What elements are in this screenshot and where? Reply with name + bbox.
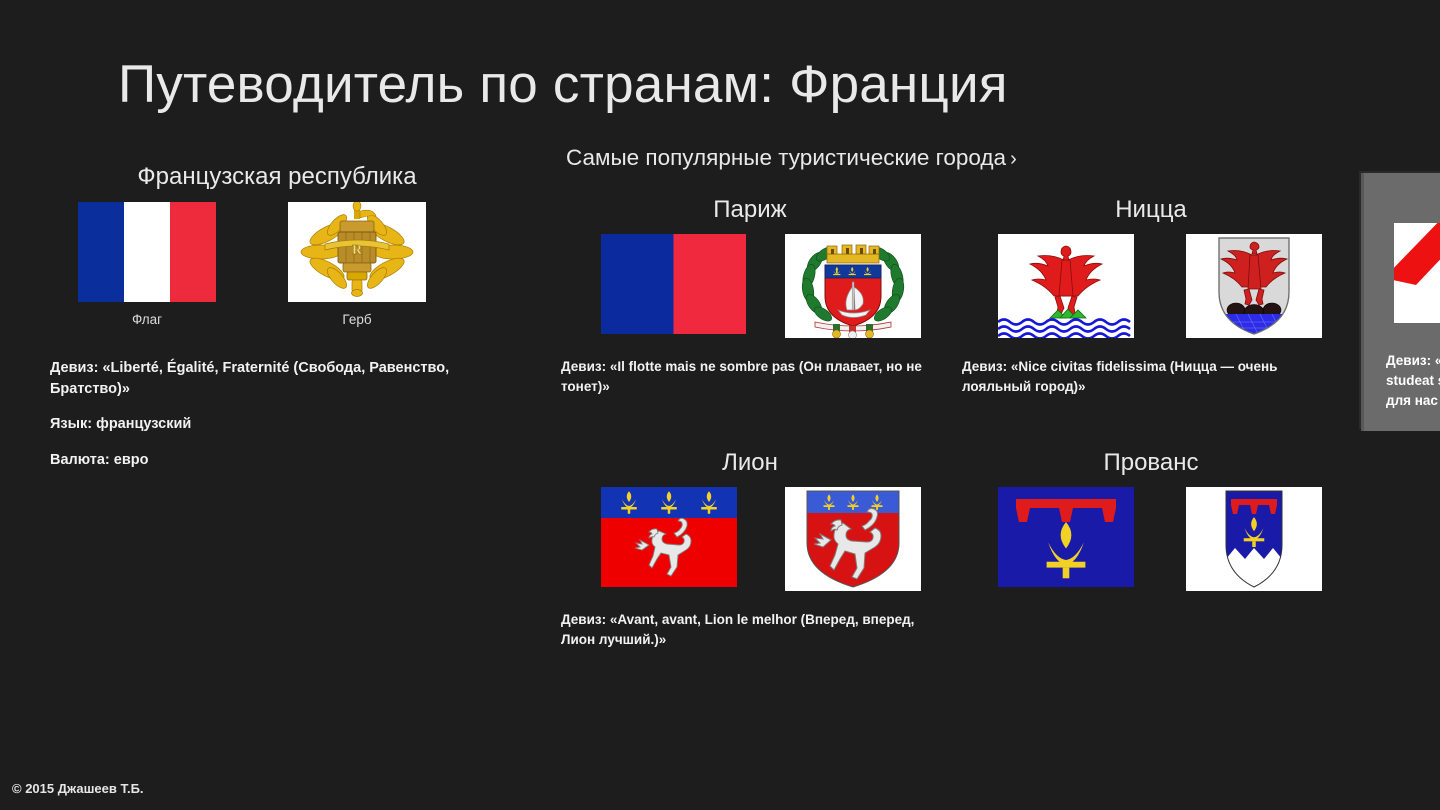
france-coat-of-arms-icon: R (288, 202, 426, 302)
city-motto-paris: Девиз: «Il flotte mais ne sombre pas (Он… (561, 357, 926, 396)
city-card-lyon[interactable]: Лион (561, 449, 961, 649)
france-flag-icon (78, 202, 216, 302)
city-title-provence: Прованс (981, 449, 1321, 477)
lyon-coat-of-arms-icon (785, 487, 921, 591)
nice-coat-of-arms-icon (1186, 234, 1322, 338)
france-flag-caption: Флаг (78, 312, 216, 327)
france-arms-caption: Герб (288, 312, 426, 327)
overlay-city-panel[interactable]: Девиз: « studeat s для нас (1361, 173, 1440, 431)
country-motto: Девиз: «Liberté, Égalité, Fraternité (Св… (50, 358, 470, 399)
overlay-flag-icon (1394, 223, 1440, 323)
country-language: Язык: французский (50, 414, 470, 435)
paris-coat-of-arms-icon (785, 234, 921, 338)
overlay-motto-line-1: Девиз: « (1386, 353, 1440, 368)
country-emblems: Флаг (50, 202, 520, 352)
country-currency: Валюта: евро (50, 450, 470, 471)
city-card-nice[interactable]: Ницца (962, 196, 1362, 396)
overlay-motto: Девиз: « studeat s для нас (1386, 351, 1440, 411)
nice-flag-icon (998, 234, 1134, 338)
france-flag-cell: Флаг (78, 202, 216, 327)
france-arms-cell: R Герб (288, 202, 426, 327)
provence-flag-icon (998, 487, 1134, 587)
city-card-paris[interactable]: Париж (561, 196, 961, 396)
city-title-lyon: Лион (580, 449, 920, 477)
paris-flag-icon (601, 234, 746, 334)
city-motto-nice: Девиз: «Nice civitas fidelissima (Ницца … (962, 357, 1327, 396)
city-motto-lyon: Девиз: «Avant, avant, Lion le melhor (Вп… (561, 610, 926, 649)
copyright-footer: © 2015 Джашеев Т.Б. (12, 781, 144, 796)
slide-canvas: Путеводитель по странам: Франция Француз… (0, 0, 1440, 810)
provence-coat-of-arms-icon (1186, 487, 1322, 591)
city-title-paris: Париж (580, 196, 920, 224)
city-card-provence[interactable]: Прованс (962, 449, 1362, 591)
cities-section-label: Самые популярные туристические города (566, 145, 1006, 170)
chevron-right-icon[interactable]: › (1010, 148, 1017, 171)
city-title-nice: Ницца (981, 196, 1321, 224)
country-heading: Французская республика (72, 163, 482, 191)
lyon-flag-icon (601, 487, 737, 587)
overlay-motto-line-2: studeat s (1386, 373, 1440, 388)
overlay-motto-line-3: для нас (1386, 393, 1438, 408)
cities-section-heading[interactable]: Самые популярные туристические города› (566, 145, 1017, 171)
country-facts: Девиз: «Liberté, Égalité, Fraternité (Св… (50, 358, 520, 470)
country-panel: Французская республика Флаг (50, 163, 520, 485)
svg-text:R: R (352, 243, 363, 258)
page-title: Путеводитель по странам: Франция (118, 54, 1008, 115)
